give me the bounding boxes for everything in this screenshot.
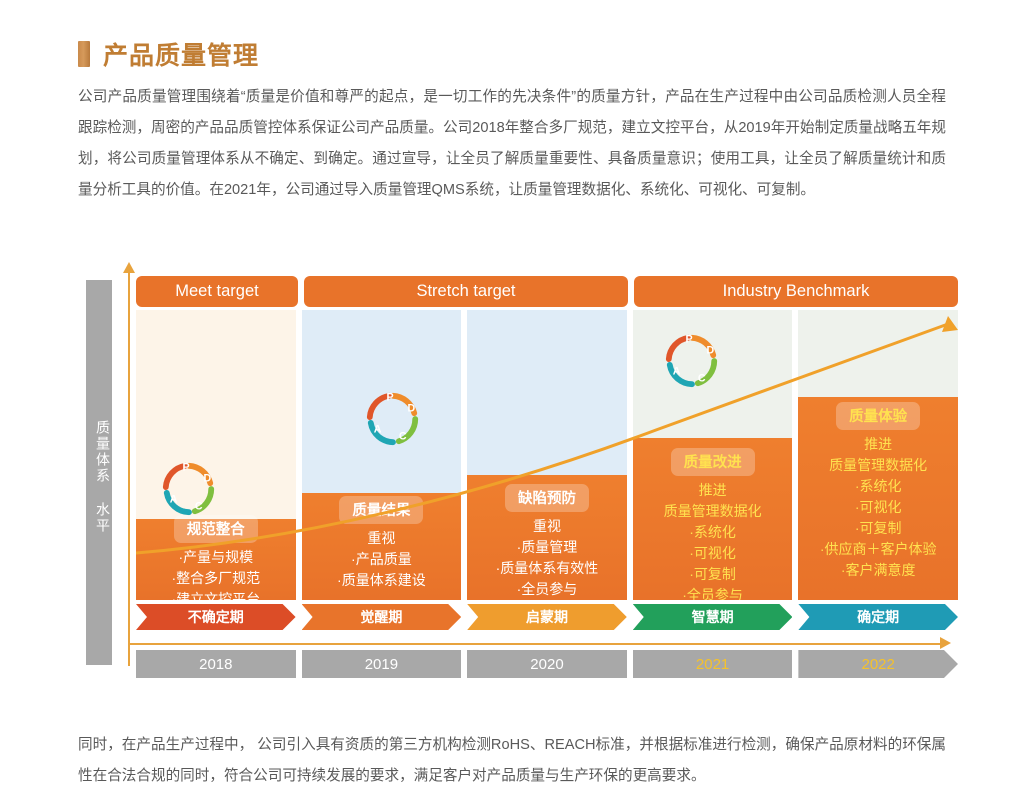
svg-text:D: D <box>706 344 714 356</box>
period-chevron-2022: 确定期 <box>798 604 958 630</box>
title-accent-bar <box>78 41 90 67</box>
stage-card-line: ·可视化 <box>633 543 793 564</box>
y-axis-line <box>128 270 130 666</box>
stage-card-2022: 质量体验推进质量管理数据化·系统化·可视化·可复制·供应商＋客户体验·客户满意度 <box>798 402 958 581</box>
stage-card-2021: 质量改进推进质量管理数据化·系统化·可视化·可复制·全员参与 <box>633 448 793 600</box>
svg-text:P: P <box>685 334 692 346</box>
year-label-2018: 2018 <box>136 650 296 678</box>
year-label-text: 2020 <box>530 656 563 673</box>
year-label-2020: 2020 <box>467 650 627 678</box>
stage-card-line: ·质量体系建设 <box>302 570 462 591</box>
chart-column-2019: DCAP质量结果重视·产品质量·质量体系建设 <box>302 310 462 600</box>
svg-text:C: C <box>698 372 706 384</box>
stage-card-line: ·产品质量 <box>302 549 462 570</box>
year-axis-row: 20182019202020212022 <box>136 650 958 678</box>
group-caption-row: Meet targetStretch targetIndustry Benchm… <box>136 276 958 307</box>
svg-text:P: P <box>183 462 190 474</box>
stage-card-line: ·系统化 <box>798 476 958 497</box>
chart-column-2020: 缺陷预防重视·质量管理·质量体系有效性·全员参与 <box>467 310 627 600</box>
period-chevron-2018: 不确定期 <box>136 604 296 630</box>
svg-text:D: D <box>204 472 212 484</box>
stage-card-line: ·系统化 <box>633 522 793 543</box>
stage-card-line: 重视 <box>302 528 462 549</box>
page-title-text: 产品质量管理 <box>103 36 259 72</box>
intro-paragraph: 公司产品质量管理围绕着“质量是价值和尊严的起点，是一切工作的先决条件”的质量方针… <box>78 82 946 206</box>
stage-card-2018: 规范整合·产量与规模·整合多厂规范·建立文控平台 <box>136 515 296 600</box>
group-caption-label: Meet target <box>175 282 258 301</box>
period-chevron-label: 启蒙期 <box>526 607 568 627</box>
stage-card-line: 推进 <box>633 480 793 501</box>
year-label-2021: 2021 <box>633 650 793 678</box>
svg-text:A: A <box>170 494 178 506</box>
stage-card-title: 质量结果 <box>339 496 423 524</box>
group-caption-1: Meet target <box>136 276 298 307</box>
stage-card-line: 推进 <box>798 434 958 455</box>
period-chevron-2020: 启蒙期 <box>467 604 627 630</box>
period-chevron-label: 智慧期 <box>692 607 734 627</box>
stage-card-line: ·客户满意度 <box>798 560 958 581</box>
closing-paragraph: 同时，在产品生产过程中， 公司引入具有资质的第三方机构检测RoHS、REACH标… <box>78 730 946 792</box>
pdca-cycle-icon: DCAP <box>364 390 422 453</box>
group-caption-3: Industry Benchmark <box>634 276 958 307</box>
year-label-text: 2022 <box>861 656 894 673</box>
year-label-2019: 2019 <box>302 650 462 678</box>
period-chevron-2019: 觉醒期 <box>302 604 462 630</box>
year-label-text: 2018 <box>199 656 232 673</box>
x-axis-arrow-icon <box>940 637 951 649</box>
svg-text:A: A <box>373 424 381 436</box>
svg-text:C: C <box>398 430 406 442</box>
stage-card-2019: 质量结果重视·产品质量·质量体系建设 <box>302 496 462 591</box>
stage-card-2020: 缺陷预防重视·质量管理·质量体系有效性·全员参与 <box>467 484 627 600</box>
svg-text:A: A <box>672 366 680 378</box>
stage-card-line: ·全员参与 <box>467 579 627 600</box>
year-label-text: 2021 <box>696 656 729 673</box>
group-caption-2: Stretch target <box>304 276 628 307</box>
y-axis-arrow-icon <box>123 262 135 273</box>
x-axis-line <box>128 643 943 645</box>
period-chevron-2021: 智慧期 <box>633 604 793 630</box>
stage-card-line: ·产量与规模 <box>136 547 296 568</box>
period-chevron-label: 不确定期 <box>188 607 244 627</box>
period-chevron-label: 确定期 <box>857 607 899 627</box>
chart-column-2021: DCAP质量改进推进质量管理数据化·系统化·可视化·可复制·全员参与 <box>633 310 793 600</box>
stage-card-line: 质量管理数据化 <box>633 501 793 522</box>
stage-card-line: ·建立文控平台 <box>136 589 296 600</box>
stage-card-line: 重视 <box>467 516 627 537</box>
group-caption-label: Stretch target <box>416 282 515 301</box>
year-label-2022: 2022 <box>798 650 958 678</box>
stage-card-line: ·整合多厂规范 <box>136 568 296 589</box>
stage-card-title: 质量改进 <box>671 448 755 476</box>
stage-card-line: ·可复制 <box>798 518 958 539</box>
stage-card-line: ·可复制 <box>633 564 793 585</box>
svg-text:D: D <box>407 402 415 414</box>
svg-text:P: P <box>386 392 393 404</box>
stage-card-line: ·质量管理 <box>467 537 627 558</box>
stage-card-line: 质量管理数据化 <box>798 455 958 476</box>
stage-card-title: 缺陷预防 <box>505 484 589 512</box>
stage-card-line: ·质量体系有效性 <box>467 558 627 579</box>
quality-maturity-chart: 质量体系 水平 Meet targetStretch targetIndustr… <box>78 262 958 692</box>
group-caption-label: Industry Benchmark <box>723 282 870 301</box>
stage-card-title: 规范整合 <box>174 515 258 543</box>
period-chevron-row: 不确定期觉醒期启蒙期智慧期确定期 <box>136 604 958 630</box>
chart-column-2018: DCAP规范整合·产量与规模·整合多厂规范·建立文控平台 <box>136 310 296 600</box>
chart-column-2022: 质量体验推进质量管理数据化·系统化·可视化·可复制·供应商＋客户体验·客户满意度 <box>798 310 958 600</box>
y-axis-label: 质量体系 水平 <box>86 412 112 542</box>
stage-card-line: ·全员参与 <box>633 585 793 600</box>
stage-card-line: ·供应商＋客户体验 <box>798 539 958 560</box>
stage-card-line: ·可视化 <box>798 497 958 518</box>
chart-columns: DCAP规范整合·产量与规模·整合多厂规范·建立文控平台DCAP质量结果重视·产… <box>136 310 958 600</box>
pdca-cycle-icon: DCAP <box>160 460 218 523</box>
year-label-text: 2019 <box>365 656 398 673</box>
pdca-cycle-icon: DCAP <box>663 332 721 395</box>
stage-card-title: 质量体验 <box>836 402 920 430</box>
page-title: 产品质量管理 <box>78 36 259 72</box>
svg-text:C: C <box>195 500 203 512</box>
period-chevron-label: 觉醒期 <box>360 607 402 627</box>
